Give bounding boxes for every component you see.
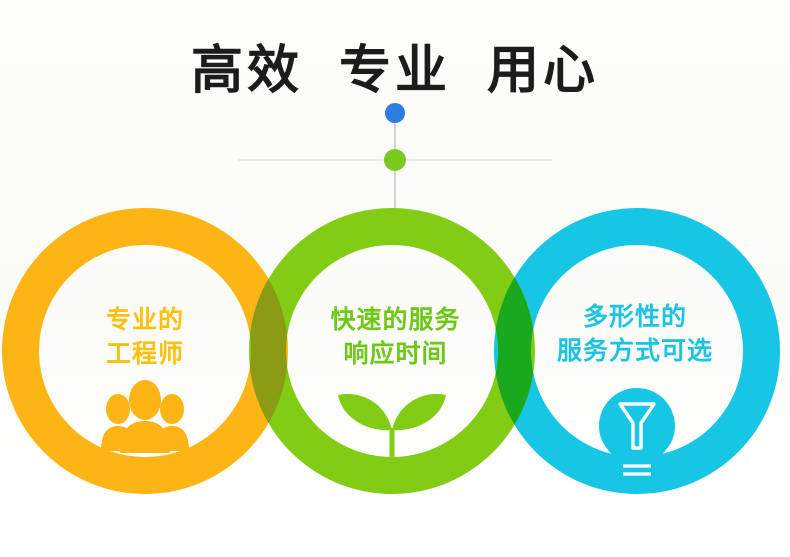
ring-response-line2: 响应时间 (283, 337, 508, 371)
ring-engineer-label: 专业的 工程师 (45, 303, 245, 371)
ring-flexible-line2: 服务方式可选 (520, 334, 750, 368)
ring-response-label: 快速的服务 响应时间 (283, 303, 508, 371)
venn-rings-graphic (0, 0, 790, 557)
ring-engineer-line2: 工程师 (45, 337, 245, 371)
ring-flexible-line1: 多形性的 (583, 303, 687, 331)
green-dot-icon (384, 149, 406, 171)
ring-engineer-line1: 专业的 (106, 306, 184, 334)
blue-dot-icon (385, 103, 405, 123)
ring-response-line1: 快速的服务 (330, 306, 460, 334)
infographic-canvas: 高效专业用心 (0, 0, 790, 557)
ring-flexible-label: 多形性的 服务方式可选 (520, 300, 750, 368)
